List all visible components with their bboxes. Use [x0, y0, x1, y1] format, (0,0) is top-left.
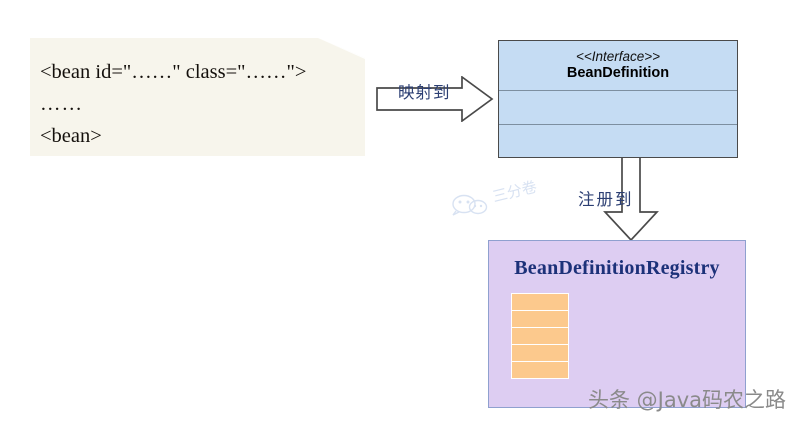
bean-definition-registry-box: BeanDefinitionRegistry [488, 240, 746, 408]
register-to-label: 注册到 [578, 186, 634, 210]
xml-bean-note: <bean id="……" class="……"> …… <bean> [30, 38, 365, 156]
map-to-label: 映射到 [398, 79, 451, 103]
bean-definition-attributes-compartment [499, 91, 737, 125]
bean-definition-name: BeanDefinition [567, 65, 669, 82]
wechat-watermark-text: 三分卷 [491, 178, 539, 206]
registry-entry-item [511, 293, 569, 311]
registry-entry-item [511, 361, 569, 379]
interface-stereotype-label: <<Interface>> [576, 49, 660, 65]
bean-definition-header: <<Interface>> BeanDefinition [499, 41, 737, 91]
note-line-2: …… [40, 88, 353, 120]
bean-definition-operations-compartment [499, 125, 737, 157]
registry-entry-item [511, 327, 569, 345]
bean-definition-class-box: <<Interface>> BeanDefinition [498, 40, 738, 158]
registry-entry-item [511, 344, 569, 362]
diagram-canvas: <bean id="……" class="……"> …… <bean> 映射到 … [0, 0, 801, 423]
wechat-watermark-icon: 三分卷 [448, 178, 552, 218]
registry-entry-stack [511, 293, 569, 378]
note-line-1: <bean id="……" class="……"> [40, 56, 353, 88]
bean-definition-registry-title: BeanDefinitionRegistry [489, 257, 745, 280]
registry-entry-item [511, 310, 569, 328]
note-line-3: <bean> [40, 120, 353, 152]
